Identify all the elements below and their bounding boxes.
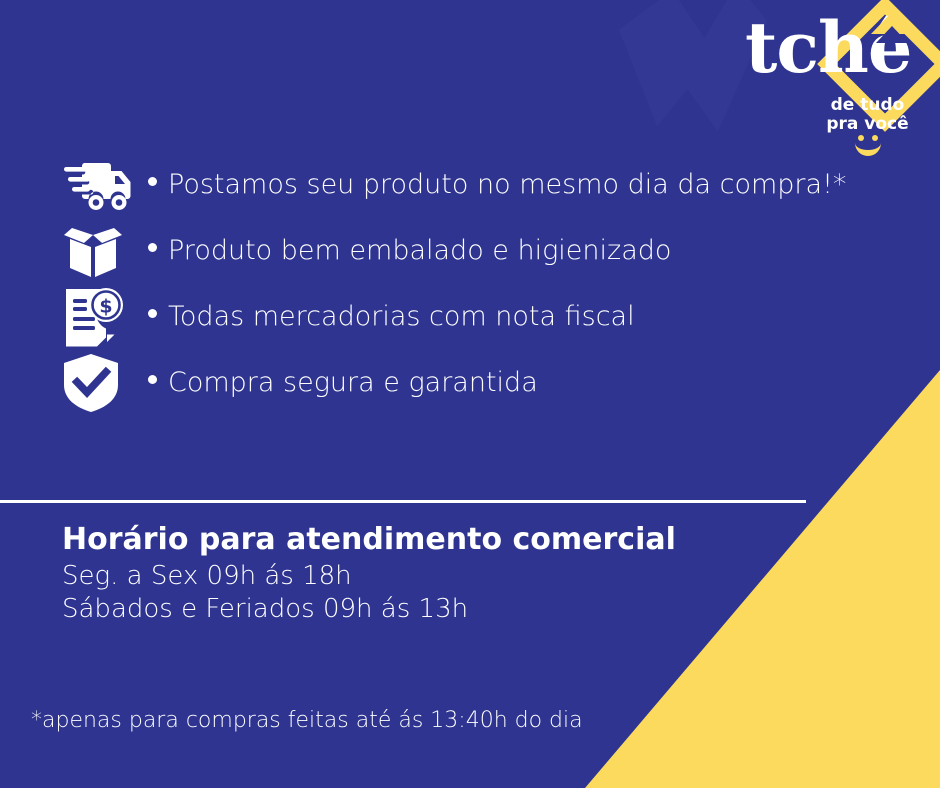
bullet-icon [148,375,157,384]
shield-check-icon [62,353,148,413]
smiley-mouth [855,138,881,156]
business-hours-weekend: Sábados e Feriados 09h ás 13h [62,593,682,626]
feature-text-invoice: Todas mercadorias com nota fiscal [148,301,635,333]
smiley-face-icon [848,135,888,153]
open-box-icon [62,223,148,279]
feature-label-shipping: Postamos seu produto no mesmo dia da com… [168,169,846,201]
logo-tagline: de tudo pra você [795,96,940,134]
promotional-banner: tchê de tudo pra você [0,0,940,788]
feature-label-packaging: Produto bem embalado e higienizado [168,235,671,267]
svg-text:$: $ [99,296,112,318]
delivery-truck-icon [62,159,148,211]
bullet-icon [148,177,157,186]
footnote-text: *apenas para compras feitas até ás 13:40… [31,707,583,735]
horizontal-divider [0,500,806,503]
feature-item-secure: Compra segura e garantida [62,350,842,416]
feature-item-shipping: Postamos seu produto no mesmo dia da com… [62,152,842,218]
business-hours-section: Horário para atendimento comercial Seg. … [62,520,682,626]
business-hours-weekdays: Seg. a Sex 09h ás 18h [62,560,682,593]
feature-label-secure: Compra segura e garantida [168,367,538,399]
business-hours-title: Horário para atendimento comercial [62,520,682,560]
brand-logo[interactable]: tchê de tudo pra você [745,4,940,149]
invoice-dollar-icon: $ [62,287,148,347]
bullet-icon [148,243,157,252]
feature-item-packaging: Produto bem embalado e higienizado [62,218,842,284]
circumflex-accent-inner-icon [876,26,908,43]
logo-tagline-line-1: de tudo [795,96,940,115]
feature-text-shipping: Postamos seu produto no mesmo dia da com… [148,169,846,201]
logo-tagline-line-2: pra você [795,115,940,134]
feature-item-invoice: $ Todas mercadorias com nota fiscal [62,284,842,350]
features-list: Postamos seu produto no mesmo dia da com… [62,152,842,416]
feature-text-secure: Compra segura e garantida [148,367,538,399]
bullet-icon [148,309,157,318]
feature-text-packaging: Produto bem embalado e higienizado [148,235,671,267]
feature-label-invoice: Todas mercadorias com nota fiscal [168,301,635,333]
